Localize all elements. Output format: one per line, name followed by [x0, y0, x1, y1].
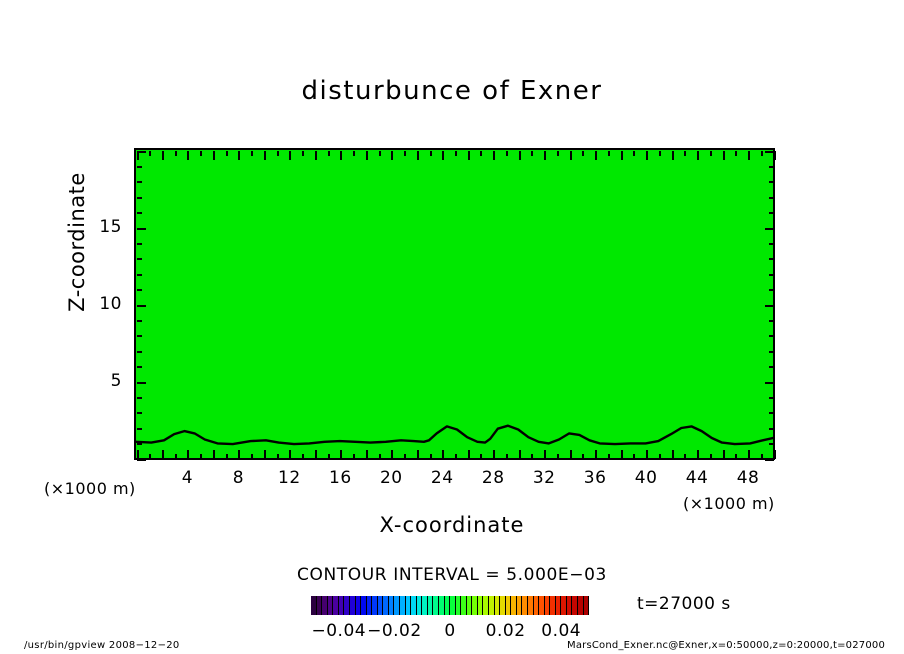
- x-tick-label: 48: [728, 468, 768, 488]
- axis-tick: [748, 151, 750, 160]
- axis-tick: [391, 151, 393, 160]
- axis-tick: [646, 450, 648, 459]
- axis-tick: [404, 454, 406, 459]
- axis-tick: [769, 428, 774, 430]
- axis-tick: [480, 454, 482, 459]
- axis-tick: [137, 459, 146, 461]
- axis-tick: [213, 450, 215, 459]
- axis-tick: [557, 454, 559, 459]
- colorbar-tick-label: 0: [422, 621, 478, 641]
- axis-tick: [162, 450, 164, 459]
- axis-tick: [684, 151, 686, 156]
- axis-tick: [289, 151, 291, 160]
- x-axis-title: X-coordinate: [0, 513, 904, 537]
- axis-tick: [723, 450, 725, 459]
- axis-tick: [366, 450, 368, 459]
- axis-tick: [774, 450, 776, 459]
- zero-contour-line: [136, 426, 773, 444]
- axis-tick: [710, 454, 712, 459]
- axis-tick: [137, 351, 142, 353]
- axis-tick: [480, 151, 482, 156]
- axis-tick: [769, 181, 774, 183]
- axis-tick: [468, 151, 470, 160]
- x-tick-label: 32: [524, 468, 564, 488]
- axis-tick: [769, 212, 774, 214]
- axis-tick: [769, 443, 774, 445]
- axis-tick: [137, 412, 142, 414]
- axis-tick: [769, 351, 774, 353]
- axis-tick: [379, 151, 381, 156]
- axis-tick: [277, 454, 279, 459]
- axis-tick: [379, 454, 381, 459]
- axis-tick: [264, 450, 266, 459]
- axis-tick: [506, 454, 508, 459]
- axis-tick: [442, 450, 444, 459]
- axis-tick: [289, 450, 291, 459]
- axis-tick: [659, 151, 661, 156]
- axis-tick: [137, 212, 142, 214]
- x-tick-label: 28: [473, 468, 513, 488]
- axis-tick: [391, 450, 393, 459]
- axis-tick: [735, 151, 737, 156]
- axis-tick: [226, 454, 228, 459]
- axis-tick: [506, 151, 508, 156]
- axis-tick: [769, 397, 774, 399]
- axis-tick: [187, 450, 189, 459]
- axis-tick: [137, 450, 139, 459]
- axis-tick: [213, 151, 215, 160]
- y-tick-label: 5: [84, 371, 122, 391]
- axis-tick: [137, 443, 142, 445]
- axis-tick: [226, 151, 228, 156]
- axis-tick: [684, 454, 686, 459]
- axis-tick: [430, 151, 432, 156]
- axis-tick: [659, 454, 661, 459]
- axis-tick: [137, 151, 146, 153]
- colorbar-tick-label: −0.02: [366, 621, 422, 641]
- axis-tick: [187, 151, 189, 160]
- axis-tick: [468, 450, 470, 459]
- axis-tick: [137, 382, 146, 384]
- axis-tick: [340, 450, 342, 459]
- axis-tick: [774, 151, 776, 160]
- axis-tick: [251, 151, 253, 156]
- y-tick-label: 10: [84, 294, 122, 314]
- x-unit-label: (×1000 m): [683, 494, 775, 513]
- axis-tick: [769, 197, 774, 199]
- axis-tick: [672, 151, 674, 160]
- axis-tick: [137, 397, 142, 399]
- axis-tick: [769, 335, 774, 337]
- axis-tick: [544, 151, 546, 160]
- axis-tick: [646, 151, 648, 160]
- axis-tick: [264, 151, 266, 160]
- contour-interval-text: CONTOUR INTERVAL = 5.000E−03: [0, 565, 904, 585]
- axis-tick: [137, 366, 142, 368]
- axis-tick: [621, 151, 623, 160]
- axis-tick: [544, 450, 546, 459]
- axis-tick: [493, 151, 495, 160]
- axis-tick: [761, 151, 763, 156]
- axis-tick: [608, 454, 610, 459]
- axis-tick: [175, 151, 177, 156]
- x-tick-label: 36: [575, 468, 615, 488]
- axis-tick: [697, 450, 699, 459]
- axis-tick: [251, 454, 253, 459]
- axis-tick: [493, 450, 495, 459]
- colorbar-swatch: [584, 596, 589, 615]
- axis-tick: [765, 305, 774, 307]
- axis-tick: [353, 151, 355, 156]
- axis-tick: [137, 305, 146, 307]
- axis-tick: [137, 289, 142, 291]
- colorbar-tick-label: −0.04: [311, 621, 367, 641]
- axis-tick: [328, 454, 330, 459]
- x-tick-label: 40: [626, 468, 666, 488]
- axis-tick: [765, 459, 774, 461]
- axis-tick: [748, 450, 750, 459]
- axis-tick: [723, 151, 725, 160]
- axis-tick: [137, 197, 142, 199]
- page-title: disturbunce of Exner: [0, 76, 904, 106]
- axis-tick: [582, 454, 584, 459]
- axis-tick: [765, 151, 774, 153]
- axis-tick: [175, 454, 177, 459]
- axis-tick: [340, 151, 342, 160]
- footer-command-text: /usr/bin/gpview 2008−12−20: [24, 640, 180, 651]
- time-label: t=27000 s: [637, 594, 731, 614]
- axis-tick: [765, 382, 774, 384]
- axis-tick: [277, 151, 279, 156]
- contour-line-svg: [136, 150, 773, 458]
- y-axis-title: Z-coordinate: [65, 147, 89, 337]
- x-tick-label: 20: [371, 468, 411, 488]
- colorbar-tick-label: 0.02: [478, 621, 534, 641]
- x-tick-label: 12: [269, 468, 309, 488]
- x-tick-label: 24: [422, 468, 462, 488]
- axis-tick: [162, 151, 164, 160]
- axis-tick: [137, 320, 142, 322]
- axis-tick: [761, 454, 763, 459]
- axis-tick: [633, 454, 635, 459]
- axis-tick: [455, 151, 457, 156]
- axis-tick: [621, 450, 623, 459]
- axis-tick: [137, 243, 142, 245]
- axis-tick: [430, 454, 432, 459]
- axis-tick: [137, 181, 142, 183]
- y-tick-label: 15: [84, 217, 122, 237]
- axis-tick: [137, 166, 142, 168]
- axis-tick: [137, 428, 142, 430]
- axis-tick: [570, 450, 572, 459]
- axis-tick: [137, 274, 142, 276]
- axis-tick: [366, 151, 368, 160]
- axis-tick: [595, 450, 597, 459]
- axis-tick: [633, 151, 635, 156]
- axis-tick: [442, 151, 444, 160]
- axis-tick: [735, 454, 737, 459]
- axis-tick: [769, 289, 774, 291]
- axis-tick: [137, 228, 146, 230]
- x-tick-label: 4: [167, 468, 207, 488]
- axis-tick: [238, 151, 240, 160]
- x-tick-label: 44: [677, 468, 717, 488]
- axis-tick: [769, 412, 774, 414]
- axis-tick: [302, 151, 304, 156]
- axis-tick: [582, 151, 584, 156]
- axis-tick: [200, 454, 202, 459]
- axis-tick: [238, 450, 240, 459]
- axis-tick: [137, 335, 142, 337]
- axis-tick: [417, 450, 419, 459]
- axis-tick: [417, 151, 419, 160]
- axis-tick: [315, 450, 317, 459]
- axis-tick: [455, 454, 457, 459]
- axis-tick: [531, 151, 533, 156]
- axis-tick: [557, 151, 559, 156]
- axis-tick: [200, 151, 202, 156]
- axis-tick: [315, 151, 317, 160]
- axis-tick: [328, 151, 330, 156]
- axis-tick: [769, 243, 774, 245]
- axis-tick: [595, 151, 597, 160]
- axis-tick: [519, 450, 521, 459]
- axis-tick: [149, 151, 151, 156]
- z-unit-label: (×1000 m): [44, 479, 136, 498]
- colorbar[interactable]: [311, 596, 589, 615]
- axis-tick: [765, 228, 774, 230]
- footer-dataset-text: MarsCond_Exner.nc@Exner,x=0:50000,z=0:20…: [567, 640, 885, 651]
- axis-tick: [697, 151, 699, 160]
- contour-plot-area[interactable]: 0.00: [134, 148, 775, 460]
- axis-tick: [531, 454, 533, 459]
- axis-tick: [519, 151, 521, 160]
- axis-tick: [769, 274, 774, 276]
- axis-tick: [769, 366, 774, 368]
- axis-tick: [149, 454, 151, 459]
- axis-tick: [672, 450, 674, 459]
- axis-tick: [608, 151, 610, 156]
- x-tick-label: 8: [218, 468, 258, 488]
- axis-tick: [570, 151, 572, 160]
- colorbar-tick-label: 0.04: [533, 621, 589, 641]
- axis-tick: [404, 151, 406, 156]
- axis-tick: [710, 151, 712, 156]
- axis-tick: [353, 454, 355, 459]
- axis-tick: [137, 258, 142, 260]
- axis-tick: [769, 258, 774, 260]
- axis-tick: [769, 166, 774, 168]
- x-tick-label: 16: [320, 468, 360, 488]
- axis-tick: [769, 320, 774, 322]
- axis-tick: [302, 454, 304, 459]
